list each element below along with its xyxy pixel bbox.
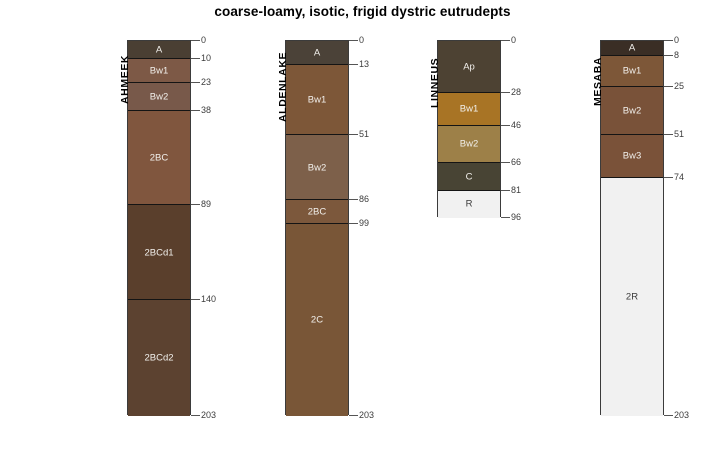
depth-tick: [501, 162, 510, 163]
horizon-2bc[interactable]: 2BC: [286, 200, 348, 224]
depth-tick: [664, 86, 673, 87]
depth-tick-label: 0: [359, 35, 364, 45]
horizon-r[interactable]: R: [438, 191, 500, 219]
horizon-label: Bw3: [601, 151, 663, 162]
horizon-2bcd1[interactable]: 2BCd1: [128, 205, 190, 299]
depth-tick: [664, 55, 673, 56]
horizon-label: 2R: [601, 291, 663, 302]
depth-tick-label: 74: [674, 172, 684, 182]
depth-tick-label: 89: [201, 199, 211, 209]
depth-tick-label: 10: [201, 53, 211, 63]
depth-tick-label: 23: [201, 77, 211, 87]
horizon-label: Bw2: [286, 162, 348, 173]
soil-profile-chart: coarse-loamy, isotic, frigid dystric eut…: [0, 0, 725, 450]
depth-tick-label: 140: [201, 294, 216, 304]
depth-tick-label: 0: [511, 35, 516, 45]
depth-tick: [191, 82, 200, 83]
depth-tick: [664, 177, 673, 178]
depth-tick-label: 203: [674, 410, 689, 420]
horizon-bw1[interactable]: Bw1: [601, 56, 663, 87]
horizon-label: Bw2: [438, 139, 500, 150]
depth-tick: [349, 40, 358, 41]
depth-tick: [501, 40, 510, 41]
horizon-a[interactable]: A: [601, 41, 663, 56]
depth-tick: [349, 134, 358, 135]
depth-tick: [501, 217, 510, 218]
horizon-label: 2BCd1: [128, 247, 190, 258]
horizon-label: A: [128, 45, 190, 56]
depth-tick-label: 51: [359, 129, 369, 139]
depth-tick-label: 0: [674, 35, 679, 45]
depth-tick: [349, 199, 358, 200]
chart-title: coarse-loamy, isotic, frigid dystric eut…: [0, 4, 725, 19]
horizon-bw1[interactable]: Bw1: [438, 93, 500, 126]
depth-tick: [191, 204, 200, 205]
profile-name-label: ALDENLAKE: [277, 52, 289, 122]
profile-column: ABw1Bw22BC2C: [285, 40, 349, 415]
horizon-label: A: [601, 43, 663, 54]
depth-tick-label: 0: [201, 35, 206, 45]
horizon-a[interactable]: A: [286, 41, 348, 65]
horizon-label: A: [286, 48, 348, 59]
depth-tick: [664, 415, 673, 416]
depth-tick: [501, 92, 510, 93]
depth-tick-label: 66: [511, 157, 521, 167]
depth-tick-label: 38: [201, 105, 211, 115]
depth-tick: [191, 58, 200, 59]
horizon-label: Bw1: [286, 95, 348, 106]
profile-column: ApBw1Bw2CR: [437, 40, 501, 217]
horizon-label: 2BC: [286, 206, 348, 217]
depth-tick: [191, 415, 200, 416]
depth-tick-label: 86: [359, 194, 369, 204]
depth-tick-label: 46: [511, 120, 521, 130]
horizon-2r[interactable]: 2R: [601, 178, 663, 416]
horizon-bw2[interactable]: Bw2: [128, 83, 190, 111]
horizon-bw1[interactable]: Bw1: [128, 59, 190, 83]
horizon-a[interactable]: A: [128, 41, 190, 59]
depth-tick: [191, 110, 200, 111]
profile-column: ABw1Bw2Bw32R: [600, 40, 664, 415]
depth-tick: [664, 40, 673, 41]
horizon-label: 2BCd2: [128, 352, 190, 363]
horizon-label: C: [438, 171, 500, 182]
depth-tick-label: 96: [511, 212, 521, 222]
profile-name-label: AHMEEK: [119, 55, 131, 104]
horizon-label: Bw2: [601, 106, 663, 117]
depth-tick: [191, 40, 200, 41]
horizon-2c[interactable]: 2C: [286, 224, 348, 416]
horizon-2bc[interactable]: 2BC: [128, 111, 190, 205]
depth-tick: [191, 299, 200, 300]
horizon-label: Bw1: [438, 104, 500, 115]
horizon-bw3[interactable]: Bw3: [601, 135, 663, 177]
depth-tick-label: 28: [511, 87, 521, 97]
depth-tick: [501, 190, 510, 191]
horizon-label: Bw1: [601, 66, 663, 77]
depth-tick: [349, 64, 358, 65]
depth-tick-label: 203: [359, 410, 374, 420]
depth-tick: [349, 415, 358, 416]
depth-tick-label: 203: [201, 410, 216, 420]
depth-tick: [349, 223, 358, 224]
horizon-bw1[interactable]: Bw1: [286, 65, 348, 135]
profile-name-label: MESABA: [592, 57, 604, 106]
profile-column: ABw1Bw22BC2BCd12BCd2: [127, 40, 191, 415]
depth-tick-label: 13: [359, 59, 369, 69]
horizon-bw2[interactable]: Bw2: [286, 135, 348, 200]
depth-tick-label: 51: [674, 129, 684, 139]
horizon-ap[interactable]: Ap: [438, 41, 500, 93]
depth-tick-label: 8: [674, 50, 679, 60]
horizon-label: Ap: [438, 61, 500, 72]
depth-tick: [501, 125, 510, 126]
horizon-bw2[interactable]: Bw2: [601, 87, 663, 135]
horizon-2bcd2[interactable]: 2BCd2: [128, 300, 190, 416]
horizon-label: Bw2: [128, 92, 190, 103]
depth-tick-label: 99: [359, 218, 369, 228]
horizon-label: 2BC: [128, 153, 190, 164]
horizon-bw2[interactable]: Bw2: [438, 126, 500, 163]
horizon-label: Bw1: [128, 66, 190, 77]
depth-tick-label: 81: [511, 185, 521, 195]
horizon-label: R: [438, 199, 500, 210]
horizon-label: 2C: [286, 314, 348, 325]
depth-tick: [664, 134, 673, 135]
profile-name-label: LINNEUS: [429, 58, 441, 108]
depth-tick-label: 25: [674, 81, 684, 91]
horizon-c[interactable]: C: [438, 163, 500, 191]
